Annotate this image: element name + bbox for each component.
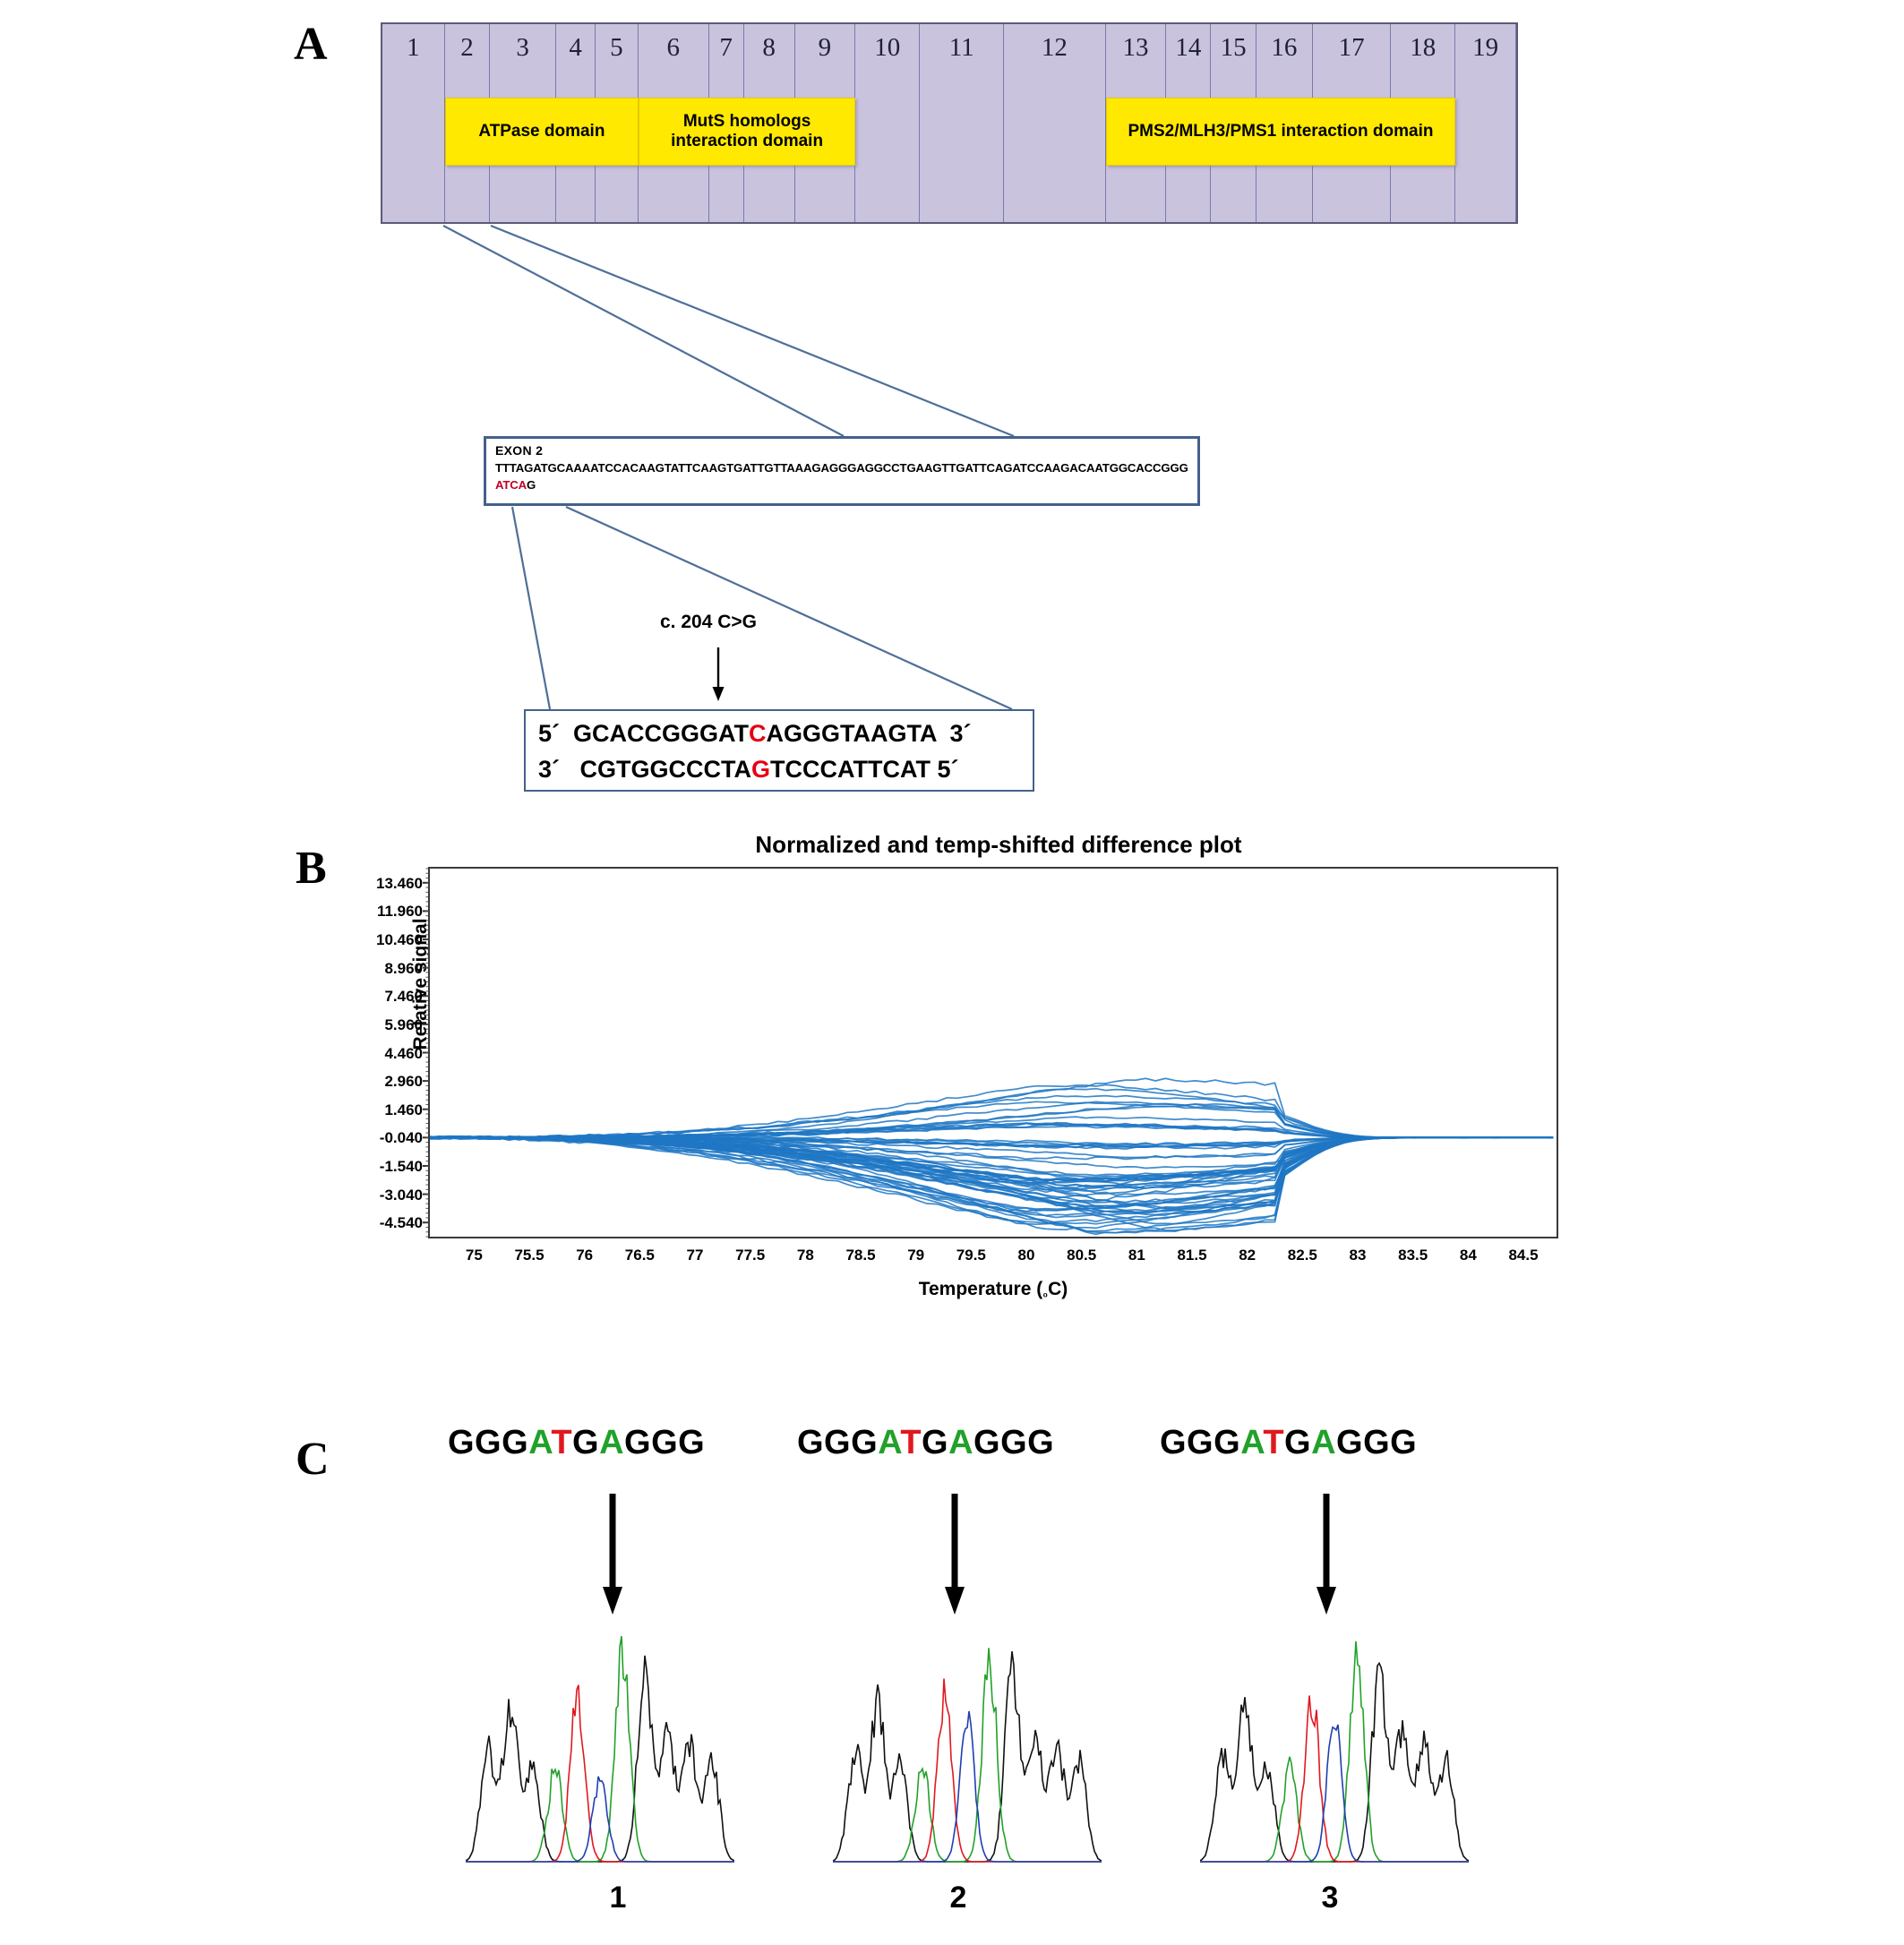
x-tick-label: 77 [687, 1247, 704, 1264]
x-axis-label: Temperature (₀C) [428, 1279, 1558, 1300]
panel-a: A 12345678910111213141516171819ATPase do… [0, 0, 1904, 806]
x-tick-label: 84.5 [1508, 1247, 1538, 1264]
melt-curve [430, 1078, 1553, 1139]
gene-exon-map: 12345678910111213141516171819ATPase doma… [381, 22, 1518, 224]
y-tick-label: -0.040 [380, 1129, 423, 1147]
panel-c-sequence-3: GGGATGAGGG [1160, 1424, 1417, 1462]
exon2-title: EXON 2 [495, 443, 1188, 459]
exon-number-17: 17 [1313, 33, 1390, 63]
exon-number-15: 15 [1211, 33, 1255, 63]
seq-base-g: G [1284, 1424, 1311, 1461]
chromatogram-trace [466, 1777, 734, 1862]
x-tick-label: 82 [1239, 1247, 1256, 1264]
panel-b: B Normalized and temp-shifted difference… [0, 806, 1904, 1451]
x-tick-label: 76.5 [625, 1247, 655, 1264]
chromatogram-2 [833, 1625, 1102, 1867]
x-tick-label: 80 [1018, 1247, 1035, 1264]
x-tick-label: 78 [797, 1247, 814, 1264]
domain-box-3: PMS2/MLH3/PMS1 interaction domain [1106, 98, 1456, 166]
x-tick-label: 82.5 [1288, 1247, 1317, 1264]
exon-number-2: 2 [445, 33, 489, 63]
chromatogram-trace [466, 1656, 734, 1862]
chromatogram-number-3: 3 [1303, 1881, 1357, 1915]
x-tick-label: 79.5 [956, 1247, 986, 1264]
x-tick-label: 80.5 [1067, 1247, 1096, 1264]
panel-c-arrow-icon-1 [603, 1494, 622, 1615]
panel-b-letter: B [296, 842, 327, 895]
seq-base-t: T [900, 1424, 922, 1461]
exon-number-4: 4 [556, 33, 595, 63]
y-tick-label: -3.040 [380, 1187, 423, 1204]
y-tick-label: 8.960 [384, 960, 423, 978]
antisense-prefix: 3´ CGTGGCCCTA [538, 756, 751, 783]
exon-number-14: 14 [1166, 33, 1210, 63]
panel-c-arrow-icon-3 [1317, 1494, 1336, 1615]
exon-number-11: 11 [920, 33, 1003, 63]
panel-c-sequence-2: GGGATGAGGG [797, 1424, 1054, 1462]
x-tick-label: 78.5 [845, 1247, 875, 1264]
exon-column-11: 11 [920, 24, 1004, 222]
exon2-seq-line2: GG [1171, 461, 1188, 475]
antisense-variant-base: G [751, 756, 770, 783]
melt-curve-svg [430, 869, 1557, 1237]
x-label-unit: C) [1048, 1279, 1068, 1299]
exon-column-19: 19 [1455, 24, 1516, 222]
x-tick-label: 75 [466, 1247, 483, 1264]
seq-base-g: G [572, 1424, 599, 1461]
exon-number-10: 10 [855, 33, 919, 63]
seq-base-g: G [922, 1424, 948, 1461]
x-tick-label: 79 [907, 1247, 924, 1264]
chart-title: Normalized and temp-shifted difference p… [421, 831, 1576, 859]
chromatogram-number-2: 2 [931, 1881, 985, 1915]
seq-prefix: GGG [1160, 1424, 1240, 1461]
seq-suffix: GGG [973, 1424, 1054, 1461]
panel-c-sequence-1: GGGATGAGGG [448, 1424, 705, 1462]
domain-box-2: MutS homologs interaction domain [639, 98, 855, 166]
y-tick-label: 4.460 [384, 1045, 423, 1063]
exon2-sequence: TTTAGATGCAAAATCCACAAGTATTCAAGTGATTGTTAAA… [495, 459, 1188, 493]
seq-base-t: T [551, 1424, 572, 1461]
seq-base-a2: A [599, 1424, 624, 1461]
x-tick-label: 75.5 [514, 1247, 544, 1264]
y-tick-label: 13.460 [376, 875, 423, 893]
exon-number-7: 7 [709, 33, 743, 63]
sense-suffix: AGGGTAAGTA 3´ [767, 720, 972, 747]
duplex-sequence-box: 5´ GCACCGGGATCAGGGTAAGTA 3´ 3´ CGTGGCCCT… [524, 709, 1034, 792]
seq-base-a2: A [948, 1424, 973, 1461]
mutation-label: c. 204 C>G [660, 612, 757, 633]
seq-base-a1: A [1240, 1424, 1263, 1461]
exon2-seq-line3: G [527, 478, 536, 492]
melt-curve-plot [428, 867, 1558, 1238]
sense-strand: 5´ GCACCGGGATCAGGGTAAGTA 3´ [538, 716, 1020, 752]
melt-curve [430, 1096, 1553, 1139]
exon-number-6: 6 [639, 33, 708, 63]
sense-prefix: 5´ GCACCGGGAT [538, 720, 749, 747]
y-tick-label: 5.960 [384, 1016, 423, 1034]
seq-base-a1: A [878, 1424, 900, 1461]
x-tick-label: 77.5 [735, 1247, 765, 1264]
antisense-strand: 3´ CGTGGCCCTAGTCCCATTCAT 5´ [538, 752, 1020, 788]
panel-c-arrow-icon-2 [945, 1494, 965, 1615]
exon-number-16: 16 [1256, 33, 1312, 63]
seq-base-a2: A [1311, 1424, 1336, 1461]
y-tick-label: 7.460 [384, 988, 423, 1006]
x-axis-ticks: 7575.57676.57777.57878.57979.58080.58181… [428, 1247, 1558, 1270]
x-tick-label: 83.5 [1398, 1247, 1428, 1264]
seq-suffix: GGG [624, 1424, 705, 1461]
y-tick-label: 1.460 [384, 1101, 423, 1119]
chromatogram-trace [833, 1651, 1102, 1862]
exon-number-13: 13 [1106, 33, 1166, 63]
chromatogram-1 [466, 1625, 734, 1867]
melt-curve [430, 1136, 1553, 1206]
y-tick-label: 11.960 [377, 903, 423, 921]
antisense-suffix: TCCCATTCAT 5´ [770, 756, 958, 783]
exon2-seq-line1: TTTAGATGCAAAATCCACAAGTATTCAAGTGATTGTTAAA… [495, 461, 1171, 475]
domain-box-1: ATPase domain [445, 98, 639, 166]
y-tick-label: -1.540 [380, 1158, 423, 1176]
seq-prefix: GGG [797, 1424, 878, 1461]
panel-c-letter: C [296, 1433, 330, 1486]
chromatogram-trace [1200, 1663, 1469, 1862]
exon2-sequence-box: EXON 2 TTTAGATGCAAAATCCACAAGTATTCAAGTGAT… [484, 436, 1200, 506]
exon-column-10: 10 [855, 24, 920, 222]
y-tick-label: -4.540 [380, 1214, 423, 1232]
exon-number-8: 8 [744, 33, 794, 63]
exon2-seq-highlight: ATCA [495, 478, 527, 492]
seq-suffix: GGG [1336, 1424, 1417, 1461]
chromatogram-trace [466, 1636, 734, 1862]
exon-column-12: 12 [1004, 24, 1106, 222]
x-tick-label: 81.5 [1177, 1247, 1206, 1264]
exon-number-9: 9 [795, 33, 855, 63]
x-tick-label: 81 [1128, 1247, 1145, 1264]
seq-base-a1: A [528, 1424, 551, 1461]
chromatogram-trace [833, 1648, 1102, 1862]
seq-base-t: T [1263, 1424, 1284, 1461]
exon-column-1: 1 [382, 24, 445, 222]
exon-number-12: 12 [1004, 33, 1105, 63]
y-axis-ticks: 13.46011.96010.4608.9607.4605.9604.4602.… [340, 867, 423, 1238]
y-tick-label: 2.960 [384, 1073, 423, 1091]
chromatogram-trace [1200, 1725, 1469, 1862]
exon-number-5: 5 [596, 33, 638, 63]
y-tick-label: 10.460 [376, 931, 423, 949]
sense-variant-base: C [749, 720, 767, 747]
melt-curve [430, 1089, 1553, 1138]
exon-number-3: 3 [490, 33, 555, 63]
seq-prefix: GGG [448, 1424, 528, 1461]
x-tick-label: 76 [576, 1247, 593, 1264]
mutation-arrow-icon [708, 647, 729, 701]
exon-number-18: 18 [1391, 33, 1454, 63]
x-label-text: Temperature ( [919, 1279, 1042, 1299]
exon-number-1: 1 [382, 33, 444, 63]
x-tick-label: 83 [1350, 1247, 1367, 1264]
x-tick-label: 84 [1460, 1247, 1477, 1264]
exon-number-19: 19 [1455, 33, 1515, 63]
panel-a-letter: A [294, 18, 328, 71]
melt-curve [430, 1101, 1553, 1138]
chromatogram-3 [1200, 1625, 1469, 1867]
panel-c: C GGGATGAGGG1GGGATGAGGG2GGGATGAGGG3 [0, 1424, 1904, 1945]
chromatogram-number-1: 1 [591, 1881, 645, 1915]
